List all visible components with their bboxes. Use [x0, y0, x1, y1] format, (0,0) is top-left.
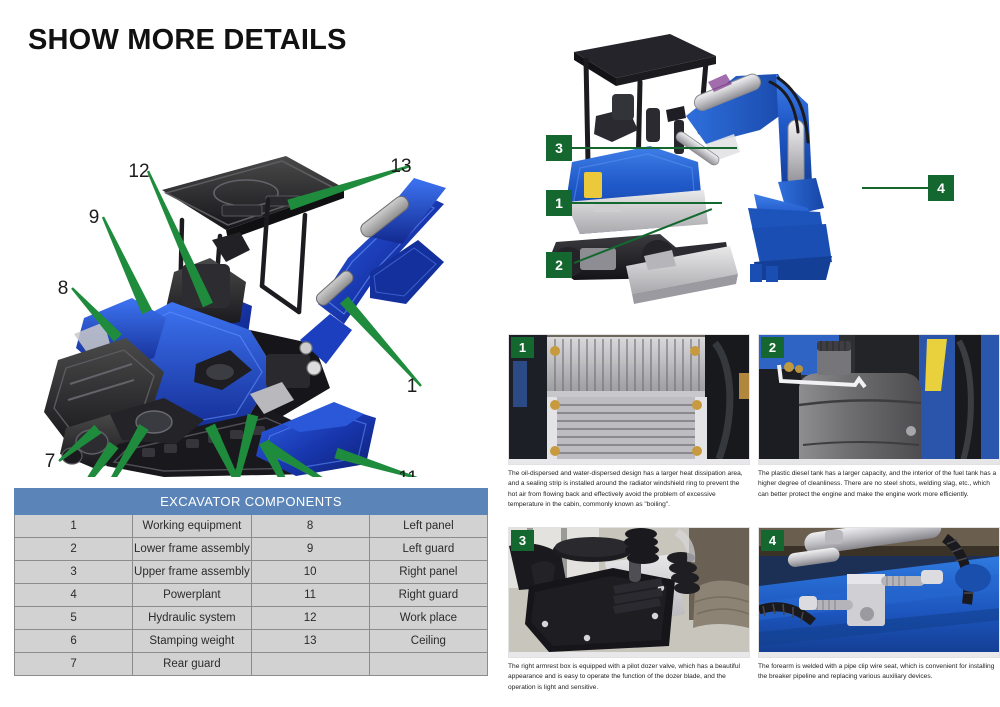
hero-leader-line-1	[572, 202, 722, 204]
hero-leader-line-3	[572, 147, 737, 149]
diagram-callout-number-7: 7	[45, 451, 56, 472]
table-cell-id-left: 1	[15, 515, 133, 538]
table-cell-name-right: Right panel	[369, 561, 487, 584]
table-cell-id-left: 4	[15, 584, 133, 607]
diagram-leader-arrow-1	[340, 296, 422, 386]
table-row: 4Powerplant11Right guard	[15, 584, 488, 607]
table-cell-id-right: 8	[251, 515, 369, 538]
hero-callout-badge-3[interactable]: 3	[546, 135, 572, 161]
exploded-diagram: 12345678910111213	[14, 72, 504, 477]
table-cell-id-right	[251, 653, 369, 676]
photo-badge-1: 1	[511, 337, 534, 358]
table-cell-id-left: 7	[15, 653, 133, 676]
table-cell-id-left: 3	[15, 561, 133, 584]
page-title: SHOW MORE DETAILS	[28, 24, 347, 57]
photo-badge-4: 4	[761, 530, 784, 551]
photo-badge-2: 2	[761, 337, 784, 358]
table-row: 7Rear guard	[15, 653, 488, 676]
diagram-working-equipment	[300, 178, 446, 375]
hero-callout-badge-1[interactable]: 1	[546, 190, 572, 216]
table-row: 3Upper frame assembly10Right panel	[15, 561, 488, 584]
table-cell-id-right: 13	[251, 630, 369, 653]
hero-callout-badge-2[interactable]: 2	[546, 252, 572, 278]
photo-frame-3[interactable]: 3	[508, 527, 750, 658]
diagram-callout-number-13: 13	[390, 156, 411, 177]
table-cell-name-right: Work place	[369, 607, 487, 630]
table-cell-id-left: 6	[15, 630, 133, 653]
table-body: 1Working equipment8Left panel2Lower fram…	[15, 515, 488, 676]
table-cell-id-left: 2	[15, 538, 133, 561]
photo-frame-1[interactable]: 1	[508, 334, 750, 465]
diagram-callout-number-8: 8	[58, 278, 69, 299]
table-row: 1Working equipment8Left panel	[15, 515, 488, 538]
table-cell-id-right: 10	[251, 561, 369, 584]
table-cell-name-right	[369, 653, 487, 676]
hero-callout-badge-4[interactable]: 4	[928, 175, 954, 201]
table-cell-name-right: Left panel	[369, 515, 487, 538]
poster-page: SHOW MORE DETAILS	[0, 0, 1000, 707]
mini-excavator-photo	[520, 12, 990, 322]
table-cell-id-left: 5	[15, 607, 133, 630]
detail-photo-grid: 1	[508, 334, 1000, 707]
table-cell-name-left: Upper frame assembly	[133, 561, 251, 584]
table-cell-name-left: Powerplant	[133, 584, 251, 607]
table-cell-name-right: Right guard	[369, 584, 487, 607]
photo-frame-4[interactable]: 4	[758, 527, 1000, 658]
table-cell-name-left: Stamping weight	[133, 630, 251, 653]
detail-photo-2[interactable]: 2	[758, 334, 1000, 500]
diagram-callout-number-11: 11	[398, 468, 418, 477]
photo-caption-4: The forearm is welded with a pipe clip w…	[758, 662, 998, 683]
table-cell-id-right: 9	[251, 538, 369, 561]
diagram-leader-arrow-9	[102, 216, 152, 314]
table-row: 6Stamping weight13Ceiling	[15, 630, 488, 653]
diagram-callout-number-1: 1	[407, 376, 418, 397]
table-cell-name-left: Working equipment	[133, 515, 251, 538]
detail-photo-4[interactable]: 4	[758, 527, 1000, 683]
table-cell-id-right: 12	[251, 607, 369, 630]
photo-frame-2[interactable]: 2	[758, 334, 1000, 465]
table-row: 2Lower frame assembly9Left guard	[15, 538, 488, 561]
diagram-callout-number-9: 9	[89, 207, 100, 228]
excavator-components-table: EXCAVATOR COMPONENTS 1Working equipment8…	[14, 488, 488, 676]
table-cell-name-left: Lower frame assembly	[133, 538, 251, 561]
photo-caption-1: The oil-dispersed and water-dispersed de…	[508, 469, 748, 511]
detail-photo-1[interactable]: 1	[508, 334, 750, 511]
table-cell-name-right: Left guard	[369, 538, 487, 561]
hero-canopy	[574, 34, 716, 86]
table-cell-name-left: Rear guard	[133, 653, 251, 676]
table-row: 5Hydraulic system12Work place	[15, 607, 488, 630]
photo-caption-2: The plastic diesel tank has a larger cap…	[758, 469, 998, 500]
photo-badge-3: 3	[511, 530, 534, 551]
table-cell-id-right: 11	[251, 584, 369, 607]
hero-upper-body	[566, 146, 708, 234]
table-cell-name-right: Ceiling	[369, 630, 487, 653]
hero-leader-line-4	[862, 187, 928, 189]
detail-photo-3[interactable]: 3	[508, 527, 750, 693]
table-header-row: EXCAVATOR COMPONENTS	[15, 489, 488, 515]
diagram-callout-number-12: 12	[128, 161, 149, 182]
table-cell-name-left: Hydraulic system	[133, 607, 251, 630]
table-title: EXCAVATOR COMPONENTS	[15, 489, 488, 515]
photo-caption-3: The right armrest box is equipped with a…	[508, 662, 748, 693]
